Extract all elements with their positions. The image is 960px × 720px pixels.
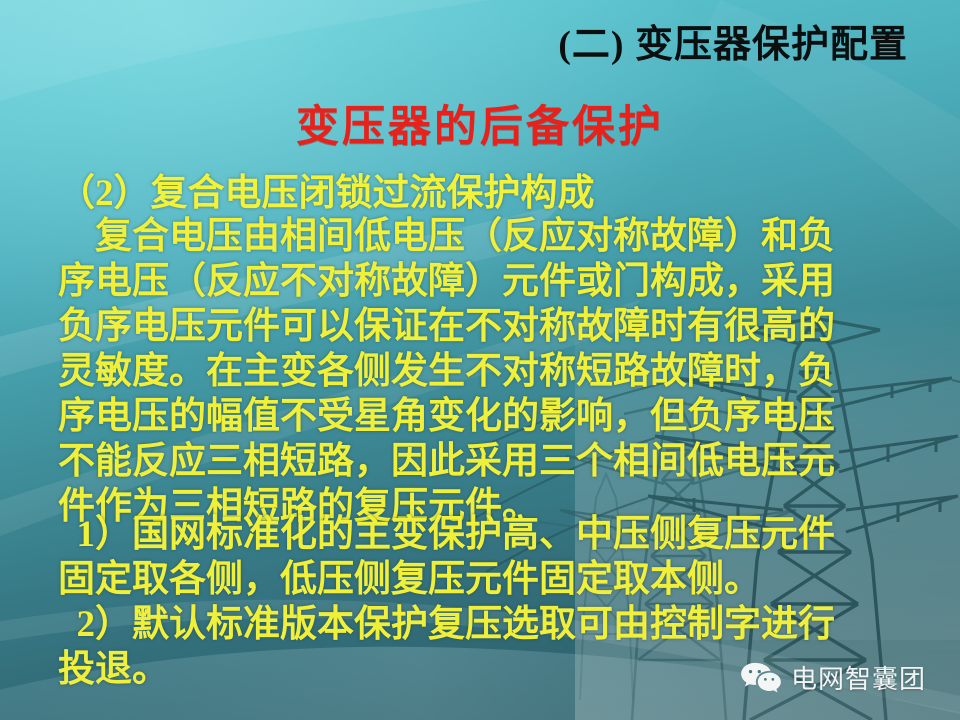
watermark: 电网智囊团 <box>740 659 926 696</box>
watermark-label: 电网智囊团 <box>791 659 926 696</box>
slide-header-title: (二) 变压器保护配置 <box>558 13 908 68</box>
body-list-item-1: 1）国网标准化的主变保护高、中压侧复压元件 固定取各侧，低压侧复压元件固定取本侧… <box>58 512 928 602</box>
body-paragraph-main: 复合电压由相间低电压（反应对称故障）和负 序电压（反应不对称故障）元件或门构成，… <box>58 214 928 529</box>
wechat-icon <box>740 661 782 695</box>
page-title: 变压器的后备保护 <box>0 92 960 154</box>
section-subheading: （2）复合电压闭锁过流保护构成 <box>58 162 595 216</box>
slide-canvas: (二) 变压器保护配置 变压器的后备保护 （2）复合电压闭锁过流保护构成 复合电… <box>0 0 960 720</box>
